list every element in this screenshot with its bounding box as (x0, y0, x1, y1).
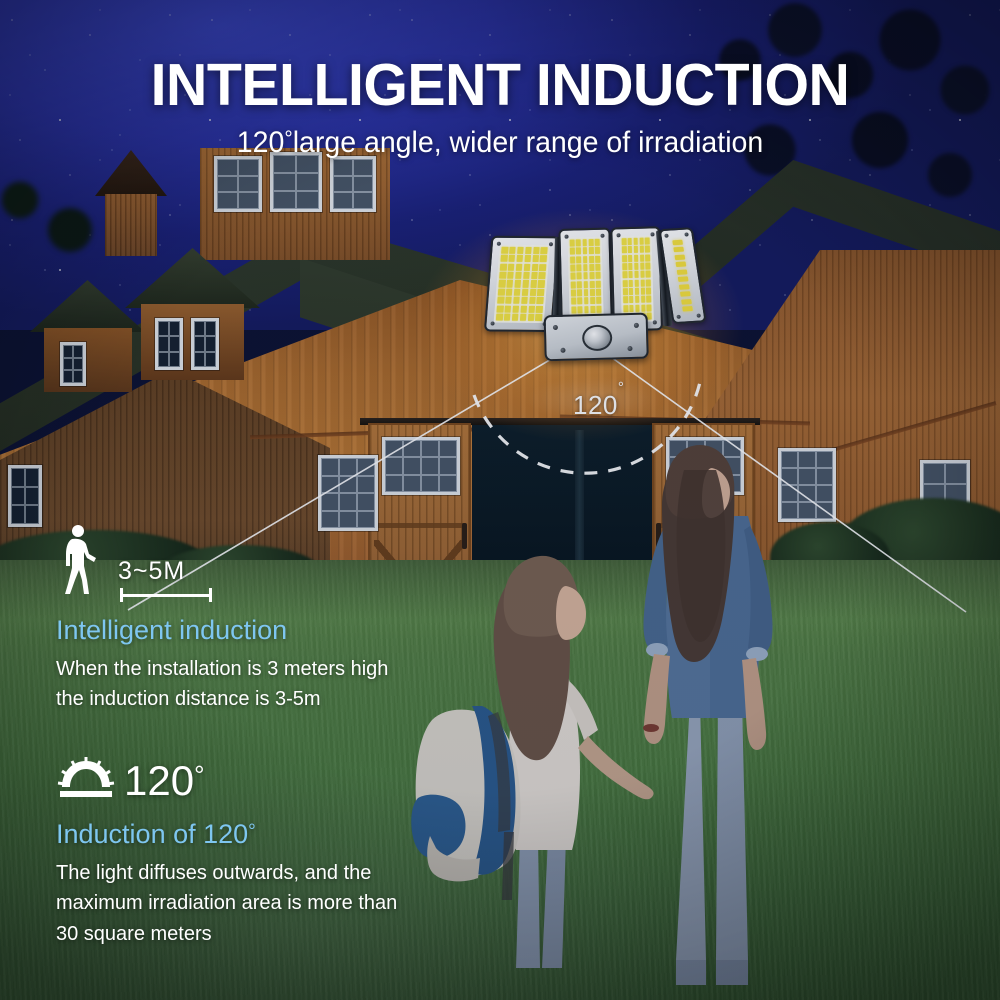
dormer-body (44, 328, 132, 392)
dormer-window (270, 152, 322, 212)
light-body-hub (544, 313, 649, 362)
feature-2-body: The light diffuses outwards, and the max… (56, 858, 397, 949)
subheadline-angle: 120 (237, 126, 285, 159)
feature-2-body-line2: maximum irradiation area is more than (56, 888, 397, 918)
barn-wall-window (318, 455, 378, 531)
angle-badge-degree: ° (194, 760, 204, 790)
panel-screw (650, 232, 654, 236)
dormer-roof (125, 248, 260, 308)
panel-screw (549, 242, 553, 246)
hub-screw (553, 325, 558, 330)
barn-wall-window (778, 448, 836, 522)
angle-marker-value: 120 (573, 390, 618, 420)
feature-2-title: Induction of 120° (56, 818, 397, 852)
page-subheadline: 120°large angle, wider range of irradiat… (25, 126, 975, 159)
barn-cupola (95, 150, 167, 255)
led-array (494, 245, 550, 323)
feature-1-title: Intelligent induction (56, 614, 388, 648)
led-array (620, 235, 654, 322)
hub-screw (627, 346, 632, 351)
barn-door-window (382, 437, 460, 495)
hub-screw (560, 348, 565, 353)
distance-measure-bar (120, 588, 212, 602)
panel-screw (664, 234, 669, 238)
solar-led-flood-light[interactable] (486, 219, 700, 364)
panel-screw (684, 232, 689, 236)
hub-screw (634, 323, 639, 328)
panel-screw (676, 315, 681, 319)
dormer-window (191, 318, 219, 370)
feature-2-title-prefix: Induction of (56, 819, 203, 849)
angle-badge: 120° (56, 757, 204, 799)
subheadline-degree-symbol: ° (284, 126, 292, 151)
panel-screw (653, 320, 657, 324)
feature-2-title-value: 120 (203, 819, 248, 849)
protractor-icon (56, 757, 116, 799)
angle-badge-value: 120 (124, 757, 194, 804)
walking-person-icon (58, 524, 102, 596)
dormer-window (60, 342, 86, 386)
dormer-window (330, 156, 376, 212)
feature-2-body-line3: 30 square meters (56, 919, 397, 949)
cob-strip-array (669, 237, 697, 315)
door-handle[interactable] (462, 523, 467, 549)
panel-screw (600, 234, 604, 238)
dormer-window (214, 156, 262, 212)
led-array (568, 237, 604, 324)
pir-sensor-dome (582, 325, 613, 352)
distance-label: 3~5M (118, 557, 185, 586)
angle-marker-label: 120° (573, 390, 624, 421)
barn-dormer-medium (125, 248, 260, 378)
measure-line (122, 594, 210, 597)
marketing-image-canvas: 120° (0, 0, 1000, 1000)
page-headline: INTELLIGENT INDUCTION (15, 56, 985, 115)
panel-screw (696, 313, 701, 317)
door-cross-band (374, 523, 465, 528)
feature-block-induction-angle: Induction of 120° The light diffuses out… (56, 818, 397, 949)
barn-door-window (666, 437, 744, 495)
dormer-window (155, 318, 183, 370)
angle-marker-degree: ° (618, 379, 625, 396)
feature-2-title-degree: ° (248, 821, 256, 842)
feature-1-body-line2: the induction distance is 3-5m (56, 684, 388, 714)
angle-badge-value-group: 120° (124, 761, 204, 801)
feature-1-body: When the installation is 3 meters high t… (56, 654, 388, 715)
barn-wall-window (8, 465, 42, 527)
door-handle[interactable] (656, 523, 661, 549)
feature-2-body-line1: The light diffuses outwards, and the (56, 858, 397, 888)
feature-1-body-line1: When the installation is 3 meters high (56, 654, 388, 684)
cupola-body (105, 194, 157, 256)
door-cross-band (658, 523, 749, 528)
measure-cap-right (209, 588, 212, 602)
panel-screw (490, 321, 494, 325)
panel-screw (616, 233, 620, 237)
feature-block-intelligent-induction: Intelligent induction When the installat… (56, 614, 388, 715)
subheadline-rest: large angle, wider range of irradiation (293, 126, 764, 159)
